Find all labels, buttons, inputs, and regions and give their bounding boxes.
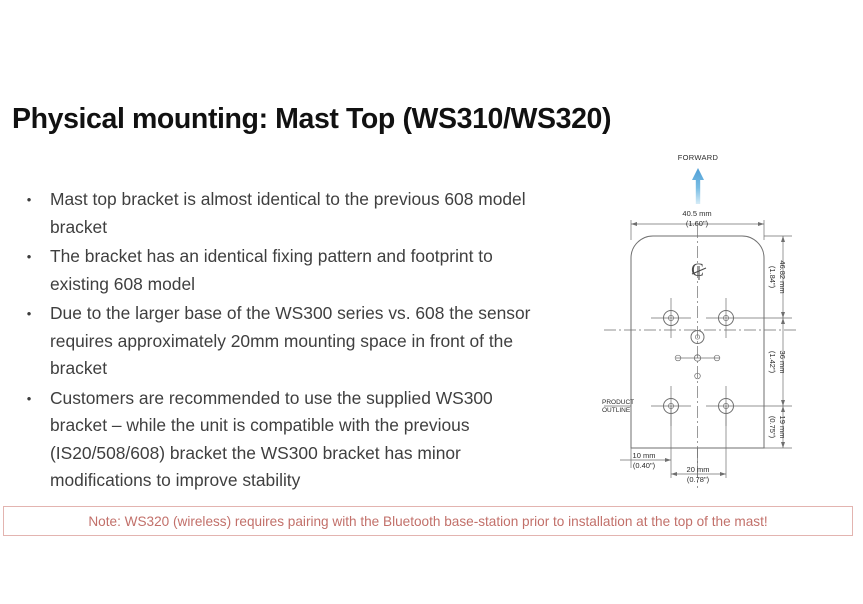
dimension-lower-mm: 19 mm [778,416,787,439]
bullet-list: • Mast top bracket is almost identical t… [8,186,553,497]
list-item-text: The bracket has an identical fixing patt… [50,243,553,298]
dimension-mid-mm: 36 mm [778,351,787,374]
svg-text:C: C [691,260,704,281]
centerline-symbol-icon: C [691,260,706,281]
dimension-spacing-mm: 20 mm [687,465,710,474]
dimension-height-in: (1.84") [768,266,777,289]
bullet-point-icon: • [8,300,50,328]
list-item: • Mast top bracket is almost identical t… [8,186,553,241]
note-text: Note: WS320 (wireless) requires pairing … [88,514,767,529]
dimension-height-mm: 46.82 mm [778,260,787,293]
list-item-text: Due to the larger base of the WS300 seri… [50,300,553,383]
list-item-text: Customers are recommended to use the sup… [50,385,553,495]
product-outline-label-line1: PRODUCT [602,399,634,406]
list-item: • Customers are recommended to use the s… [8,385,553,495]
bullet-point-icon: • [8,385,50,413]
list-item-text: Mast top bracket is almost identical to … [50,186,553,241]
product-outline-label-line2: OUTLINE [602,407,631,414]
dimension-offset-mm: 10 mm [633,451,656,460]
bullet-point-icon: • [8,243,50,271]
slide-canvas: Physical mounting: Mast Top (WS310/WS320… [0,0,863,604]
mounting-bracket-technical-drawing: FORWARD 40.5 mm (1.60") [596,148,858,493]
bullet-point-icon: • [8,186,50,214]
forward-label: FORWARD [678,153,719,162]
forward-arrow-icon [692,168,704,204]
dimension-spacing-in: (0.78") [687,475,710,484]
list-item: • The bracket has an identical fixing pa… [8,243,553,298]
list-item: • Due to the larger base of the WS300 se… [8,300,553,383]
note-banner: Note: WS320 (wireless) requires pairing … [3,506,853,536]
dimension-width-mm: 40.5 mm [682,209,711,218]
dimension-offset-in: (0.40") [633,461,656,470]
dimension-lower-in: (0.75") [768,416,777,439]
dimension-mid-in: (1.42") [768,351,777,374]
page-title: Physical mounting: Mast Top (WS310/WS320… [12,103,712,136]
